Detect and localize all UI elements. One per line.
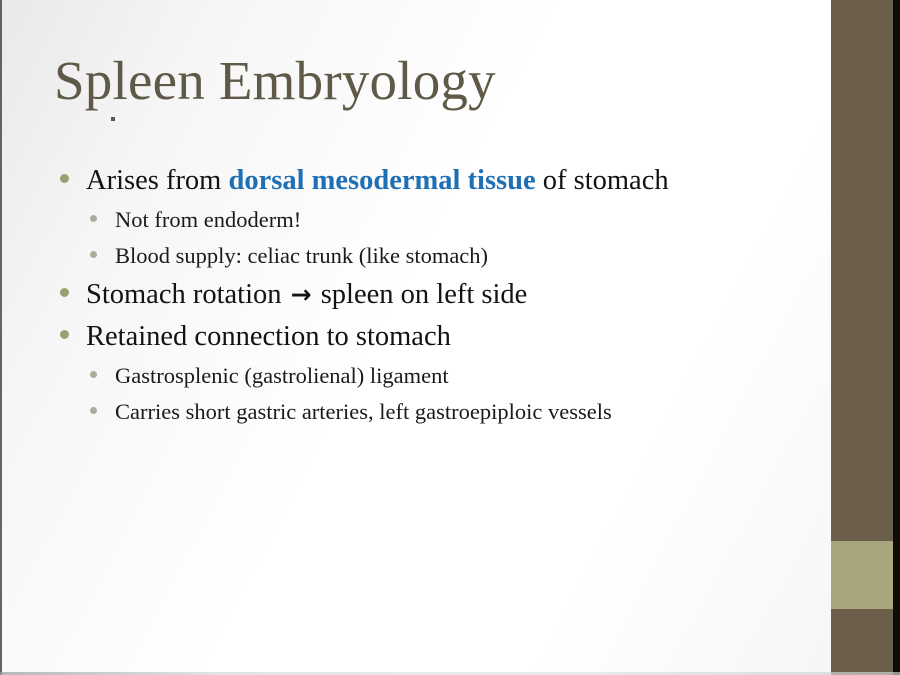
sub-bullet-text: Not from endoderm! [115, 202, 301, 238]
bullet-text-part: Arises from [86, 165, 228, 196]
sidebar-band-brown-bottom [831, 609, 893, 675]
bullet-text-part: of stomach [536, 165, 669, 196]
bullet-marker-icon [60, 284, 86, 302]
bullet-text-part: Stomach rotation [86, 279, 289, 310]
bullet-gastrosplenic-ligament: Gastrosplenic (gastrolienal) ligament [90, 358, 820, 394]
bullet-marker-icon [60, 326, 86, 344]
sub-bullet-text: Blood supply: celiac trunk (like stomach… [115, 238, 488, 274]
sub-bullet-text: Gastrosplenic (gastrolienal) ligament [115, 358, 449, 394]
bullet-text: Stomach rotation → spleen on left side [86, 274, 527, 315]
bullet-blood-supply: Blood supply: celiac trunk (like stomach… [90, 238, 820, 274]
sidebar-band-khaki [831, 541, 893, 609]
slide-title: Spleen Embryology [54, 52, 496, 110]
slide-left-edge-rule [0, 0, 2, 675]
sub-bullet-marker-icon [90, 209, 115, 227]
slide-right-edge-strip [893, 0, 900, 675]
bullet-not-from-endoderm: Not from endoderm! [90, 202, 820, 238]
bullet-retained-connection: Retained connection to stomach [60, 316, 820, 357]
presentation-slide: Spleen Embryology Arises from dorsal mes… [0, 0, 900, 675]
bullet-text: Retained connection to stomach [86, 316, 451, 357]
bullet-text-part: spleen on left side [314, 279, 528, 310]
sub-bullet-marker-icon [90, 401, 115, 419]
bullet-text: Arises from dorsal mesodermal tissue of … [86, 160, 669, 201]
bullet-carries-vessels: Carries short gastric arteries, left gas… [90, 394, 820, 430]
sidebar-band-brown-top [831, 0, 893, 541]
title-speck-artifact [111, 117, 115, 121]
bullet-arises-from: Arises from dorsal mesodermal tissue of … [60, 160, 820, 201]
sub-bullet-marker-icon [90, 365, 115, 383]
right-arrow-icon: → [289, 280, 314, 309]
decorative-sidebar [831, 0, 893, 675]
bullet-marker-icon [60, 170, 86, 188]
bullet-stomach-rotation: Stomach rotation → spleen on left side [60, 274, 820, 315]
slide-body: Arises from dorsal mesodermal tissue of … [60, 160, 820, 430]
bullet-text-emphasis: dorsal mesodermal tissue [228, 165, 535, 196]
sub-bullet-text: Carries short gastric arteries, left gas… [115, 394, 612, 430]
sub-bullet-marker-icon [90, 245, 115, 263]
